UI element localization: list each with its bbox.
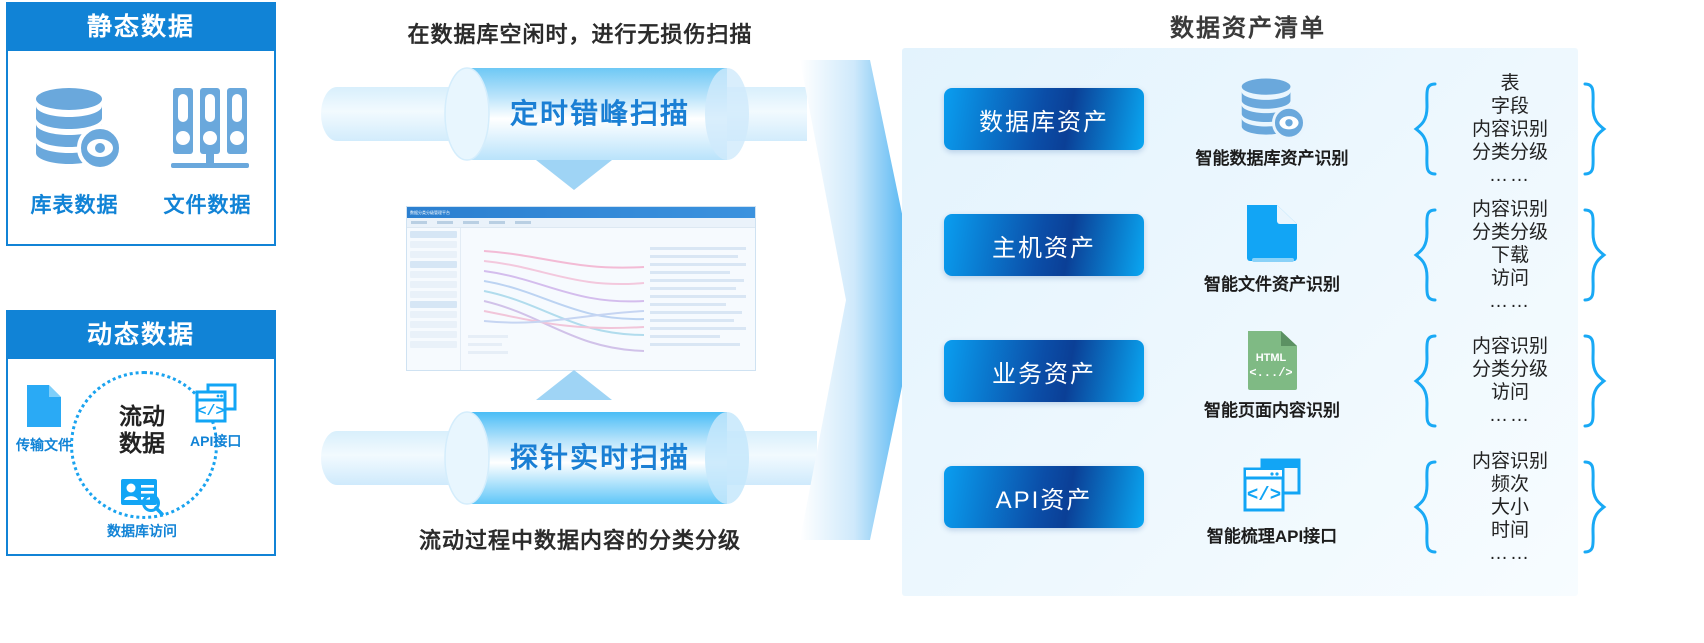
database-access-search-icon: [119, 502, 165, 519]
dynamic-label-db-access: 数据库访问: [92, 521, 192, 541]
list-item: 分类分级: [1445, 358, 1575, 381]
asset-row: 业务资产 HTML <.../> 智能页面内容识别 内容识别: [898, 326, 1704, 436]
asset-detail-list: 内容识别 分类分级 下载 访问 ……: [1350, 200, 1670, 310]
list-item: 分类分级: [1445, 141, 1575, 164]
asset-chip-host[interactable]: 主机资产: [944, 214, 1144, 276]
api-code-window-icon: </>: [1241, 457, 1303, 520]
dynamic-center-line1: 流动: [92, 403, 192, 430]
asset-chip-api[interactable]: API资产: [944, 466, 1144, 528]
screenshot-subnav: [407, 218, 755, 228]
asset-detail-list: 表 字段 内容识别 分类分级 ……: [1350, 74, 1670, 184]
static-data-panel: 静态数据: [6, 2, 276, 246]
static-label-db: 库表数据: [31, 189, 119, 219]
asset-chip-label: 业务资产: [992, 354, 1096, 389]
dynamic-node-db-access: 数据库访问: [92, 477, 192, 541]
asset-detail-items: 内容识别 频次 大小 时间 ……: [1439, 450, 1581, 565]
static-data-icons: [8, 51, 274, 175]
static-label-file: 文件数据: [164, 189, 252, 219]
screenshot-titlebar: 数据分类分级管理平台: [407, 207, 755, 218]
right-brace-icon: [1581, 81, 1607, 177]
screenshot-sidebar: [407, 228, 461, 371]
page-title: 数据资产清单: [898, 8, 1598, 43]
database-eye-icon: [1238, 77, 1306, 144]
list-item: 字段: [1445, 95, 1575, 118]
left-brace-icon: [1413, 333, 1439, 429]
asset-chip-label: 数据库资产: [979, 102, 1109, 137]
file-server-icon: [169, 86, 251, 175]
list-item: ……: [1445, 404, 1575, 427]
list-item: 内容识别: [1445, 198, 1575, 221]
arrow-up-icon: [536, 370, 612, 400]
list-item: 大小: [1445, 496, 1575, 519]
static-data-title: 静态数据: [8, 4, 274, 51]
asset-icon-caption: 智能梳理API接口: [1172, 522, 1372, 547]
asset-icon-group: 智能数据库资产识别: [1172, 76, 1372, 169]
asset-chip-label: 主机资产: [992, 228, 1096, 263]
dynamic-node-transfer-file: 传输文件: [16, 383, 72, 455]
dynamic-data-body: 流动 数据 传输文件: [8, 359, 274, 554]
asset-icon-group: </> 智能梳理API接口: [1172, 454, 1372, 547]
asset-detail-items: 内容识别 分类分级 下载 访问 ……: [1439, 198, 1581, 313]
cylinder-bottom-label: 探针实时扫描: [307, 436, 837, 476]
svg-text:</>: </>: [1247, 484, 1281, 506]
svg-text:</>: </>: [197, 403, 224, 420]
asset-icon-caption: 智能页面内容识别: [1172, 396, 1372, 421]
svg-text:<.../>: <.../>: [1249, 366, 1292, 380]
file-document-icon: [1243, 202, 1301, 271]
asset-icon-group: 智能文件资产识别: [1172, 202, 1372, 295]
dynamic-data-panel: 动态数据 流动 数据 传输文件: [6, 310, 276, 556]
list-item: 访问: [1445, 267, 1575, 290]
list-item: 频次: [1445, 473, 1575, 496]
right-column: 数据资产清单 数据库资产: [898, 0, 1704, 643]
dynamic-node-api: </> API接口: [190, 383, 241, 451]
dynamic-center-line2: 数据: [92, 430, 192, 457]
dynamic-label-api: API接口: [190, 431, 241, 451]
svg-text:HTML: HTML: [1256, 352, 1287, 364]
dynamic-label-transfer-file: 传输文件: [16, 435, 72, 455]
arrow-down-icon: [536, 160, 612, 190]
asset-icon-caption: 智能文件资产识别: [1172, 270, 1372, 295]
asset-detail-list: 内容识别 频次 大小 时间 ……: [1350, 452, 1670, 562]
cylinder-realtime-probe-scan: 探针实时扫描: [307, 404, 837, 508]
list-item: 内容识别: [1445, 450, 1575, 473]
html-file-icon: HTML <.../>: [1244, 328, 1300, 397]
screenshot-sankey-area: [461, 228, 755, 371]
right-brace-icon: [1581, 207, 1607, 303]
list-item: 内容识别: [1445, 335, 1575, 358]
asset-detail-items: 表 字段 内容识别 分类分级 ……: [1439, 72, 1581, 187]
list-item: ……: [1445, 542, 1575, 565]
list-item: 时间: [1445, 519, 1575, 542]
left-brace-icon: [1413, 81, 1439, 177]
asset-detail-items: 内容识别 分类分级 访问 ……: [1439, 335, 1581, 427]
asset-chip-label: API资产: [996, 480, 1093, 515]
dynamic-center-label: 流动 数据: [92, 403, 192, 457]
dynamic-data-title: 动态数据: [8, 312, 274, 359]
middle-caption-top: 在数据库空闲时，进行无损伤扫描: [300, 17, 860, 49]
list-item: 访问: [1445, 381, 1575, 404]
asset-icon-caption: 智能数据库资产识别: [1172, 144, 1372, 169]
platform-screenshot-thumbnail[interactable]: 数据分类分级管理平台: [406, 206, 756, 371]
static-data-body: 库表数据 文件数据: [8, 51, 274, 244]
cylinder-scheduled-scan: 定时错峰扫描: [307, 60, 837, 164]
asset-chip-database[interactable]: 数据库资产: [944, 88, 1144, 150]
middle-column: 在数据库空闲时，进行无损伤扫描: [300, 0, 860, 643]
asset-detail-list: 内容识别 分类分级 访问 ……: [1350, 326, 1670, 436]
screenshot-body: [407, 228, 755, 371]
list-item: 表: [1445, 72, 1575, 95]
list-item: ……: [1445, 290, 1575, 313]
asset-chip-business[interactable]: 业务资产: [944, 340, 1144, 402]
list-item: 内容识别: [1445, 118, 1575, 141]
asset-row: API资产 </> 智能梳理API接口: [898, 452, 1704, 562]
list-item: ……: [1445, 164, 1575, 187]
list-item: 下载: [1445, 244, 1575, 267]
database-eye-icon: [31, 86, 123, 175]
left-column: 静态数据: [6, 0, 278, 643]
asset-row: 主机资产 智能文件资产识别 内容识别 分类分级 下载: [898, 200, 1704, 310]
list-item: 分类分级: [1445, 221, 1575, 244]
static-data-labels: 库表数据 文件数据: [8, 189, 274, 219]
screenshot-title-text: 数据分类分级管理平台: [410, 210, 450, 216]
middle-caption-bottom: 流动过程中数据内容的分类分级: [300, 523, 860, 555]
right-brace-icon: [1581, 333, 1607, 429]
document-icon: [24, 416, 64, 433]
left-brace-icon: [1413, 459, 1439, 555]
api-code-window-icon: </>: [194, 412, 238, 429]
asset-row: 数据库资产: [898, 74, 1704, 184]
cylinder-top-label: 定时错峰扫描: [307, 92, 837, 132]
right-brace-icon: [1581, 459, 1607, 555]
left-brace-icon: [1413, 207, 1439, 303]
asset-icon-group: HTML <.../> 智能页面内容识别: [1172, 328, 1372, 421]
